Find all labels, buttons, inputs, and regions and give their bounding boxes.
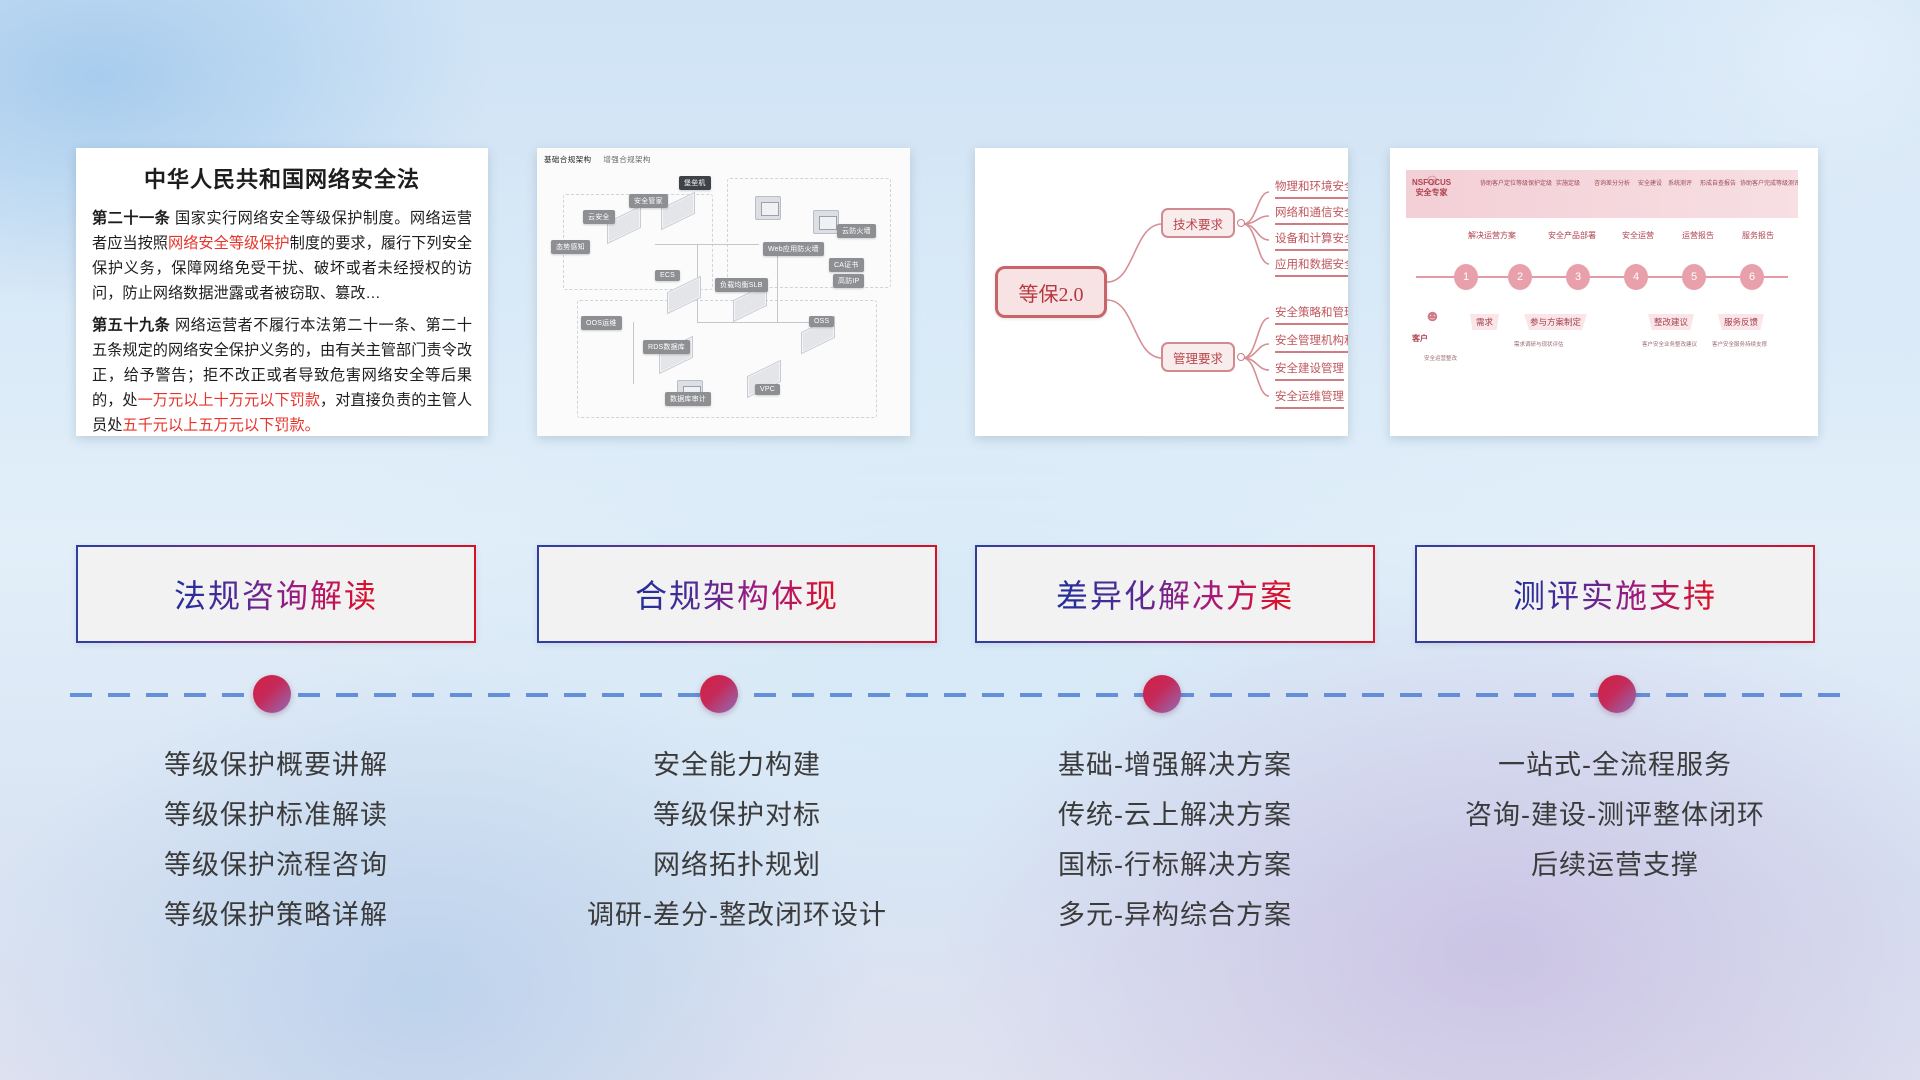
roadmap-step-1: 1 [1454,264,1478,290]
roadmap-sub-0: 解决运营方案 [1468,230,1516,241]
law-title: 中华人民共和国网络安全法 [92,162,472,194]
timeline-track [70,693,1850,697]
band-cell-1: 实施定级 [1556,178,1580,187]
architecture-diagram: 基础合规架构增强合规架构 堡垒机 安全管家 云安全 态势感知 We [537,148,910,436]
list-item: 后续运营支撑 [1415,840,1815,890]
mindmap-leaf-build: 安全建设管理 [1275,360,1344,381]
mindmap-root: 等保2.0 [995,266,1107,318]
node-cloud-security-center: 堡垒机 [679,176,711,190]
list-item: 等级保护策略详解 [76,890,476,940]
roadmap-step-5: 5 [1682,264,1706,290]
image-card-row: 中华人民共和国网络安全法 第二十一条 国家实行网络安全等级保护制度。网络运营者应… [0,148,1920,438]
bullet-columns: 等级保护概要讲解 等级保护标准解读 等级保护流程咨询 等级保护策略详解 安全能力… [0,740,1920,970]
article-59-label: 第五十九条 [92,317,170,334]
law-article-21: 第二十一条 国家实行网络安全等级保护制度。网络运营者应当按照网络安全等级保护制度… [92,206,472,306]
list-item: 等级保护流程咨询 [76,840,476,890]
band-cell-5: 形成自查报告 [1700,178,1736,187]
list-item: 调研-差分-整改闭环设计 [537,890,937,940]
mindmap-collapse-dot-management[interactable] [1237,353,1245,361]
node-ecs: ECS [655,270,680,281]
list-item: 网络拓扑规划 [537,840,937,890]
node-vpc: VPC [755,384,780,395]
node-anti-ddos: 高防IP [833,274,864,288]
node-slb: 负载均衡SLB [715,278,768,292]
mindmap-leaf-org: 安全管理机构和人员 [1275,332,1348,353]
connector-3 [697,322,817,323]
node-security-manager: 安全管家 [629,194,668,208]
article-21-highlight: 网络安全等级保护 [168,235,290,252]
roadmap-step-3: 3 [1566,264,1590,290]
timeline-node-4[interactable] [1598,675,1636,713]
node-situation-awareness: 态势感知 [551,240,590,254]
list-item: 一站式-全流程服务 [1415,740,1815,790]
list-item: 等级保护概要讲解 [76,740,476,790]
mindmap-leaf-physical: 物理和环境安全 [1275,178,1348,199]
node-cloud-sec: 云安全 [583,210,615,224]
roadmap-tag-2: 整改建议 [1648,314,1694,330]
mindmap-leaf-network: 网络和通信安全 [1275,204,1348,225]
icon-host-1 [755,196,781,220]
roadmap-step-2: 2 [1508,264,1532,290]
list-item: 基础-增强解决方案 [975,740,1375,790]
roadmap-brand: NSFOCUS 安全专家 [1412,178,1451,198]
list-item: 等级保护标准解读 [76,790,476,840]
roadmap-sub-2: 安全运营 [1622,230,1654,241]
connector-4 [777,248,778,322]
mindmap-branch-technical: 技术要求 [1161,208,1235,238]
card-cybersecurity-law[interactable]: 中华人民共和国网络安全法 第二十一条 国家实行网络安全等级保护制度。网络运营者应… [76,148,488,436]
roadmap-tag-3: 服务反馈 [1718,314,1764,330]
mindmap-leaf-ops: 安全运维管理 [1275,388,1344,409]
headline-label-4: 测评实施支持 [1513,571,1717,617]
node-db-audit: 数据库审计 [665,392,711,406]
architecture-tabs: 基础合规架构增强合规架构 [544,154,663,165]
headline-label-3: 差异化解决方案 [1056,571,1294,617]
timeline-node-2[interactable] [700,675,738,713]
roadmap-step-6: 6 [1740,264,1764,290]
card-dengbao-mindmap[interactable]: 等保2.0 技术要求 物理和环境安全 网络和通信安全 设备和计算安全 应用和数据… [975,148,1348,436]
roadmap-sub-3: 运营报告 [1682,230,1714,241]
brand-subtitle: 安全专家 [1412,188,1451,198]
bullet-column-4: 一站式-全流程服务 咨询-建设-测评整体闭环 后续运营支撑 [1415,740,1815,890]
node-cloud-firewall: 云防火墙 [837,224,876,238]
mindmap-diagram: 等保2.0 技术要求 物理和环境安全 网络和通信安全 设备和计算安全 应用和数据… [975,148,1348,436]
roadmap-diagram: 协助客户定位等级保护定级 实施定级 咨询差分分析 安全建设 系统测评 形成自查报… [1390,148,1818,436]
list-item: 多元-异构综合方案 [975,890,1375,940]
headline-box-assessment-support[interactable]: 测评实施支持 [1415,545,1815,643]
list-item: 咨询-建设-测评整体闭环 [1415,790,1815,840]
card-compliance-architecture[interactable]: 基础合规架构增强合规架构 堡垒机 安全管家 云安全 态势感知 We [537,148,910,436]
article-59-highlight-2: 五千元以上五万元以下罚款。 [122,417,319,434]
customer-role: 客户 [1412,334,1428,344]
list-item: 传统-云上解决方案 [975,790,1375,840]
headline-label-1: 法规咨询解读 [174,571,378,617]
roadmap-sub-1: 安全产品部署 [1548,230,1596,241]
headline-box-regulation-consulting[interactable]: 法规咨询解读 [76,545,476,643]
article-21-label: 第二十一条 [92,210,170,227]
roadmap-caption-0: 安全运营整改 [1424,354,1457,362]
timeline-node-1[interactable] [253,675,291,713]
customer-avatar-icon: ☻ [1424,308,1441,326]
roadmap-step-4: 4 [1624,264,1648,290]
bullet-column-2: 安全能力构建 等级保护对标 网络拓扑规划 调研-差分-整改闭环设计 [537,740,937,940]
tab-basic-architecture[interactable]: 基础合规架构 [544,155,591,164]
timeline-node-3[interactable] [1143,675,1181,713]
roadmap-caption-3: 客户安全服务持续支撑 [1712,340,1767,348]
bullet-column-1: 等级保护概要讲解 等级保护标准解读 等级保护流程咨询 等级保护策略详解 [76,740,476,940]
band-cell-4: 系统测评 [1668,178,1692,187]
mindmap-branch-management: 管理要求 [1161,342,1235,372]
law-article-59: 第五十九条 网络运营者不履行本法第二十一条、第二十五条规定的网络安全保护义务的，… [92,313,472,436]
icon-host-2 [813,210,839,234]
node-oos: OOS运维 [581,316,622,330]
band-cell-0: 协助客户定位等级保护定级 [1480,178,1552,187]
headline-box-compliance-architecture[interactable]: 合规架构体现 [537,545,937,643]
roadmap-band: 协助客户定位等级保护定级 实施定级 咨询差分分析 安全建设 系统测评 形成自查报… [1406,170,1798,218]
bullet-column-3: 基础-增强解决方案 传统-云上解决方案 国标-行标解决方案 多元-异构综合方案 [975,740,1375,940]
band-cell-3: 安全建设 [1638,178,1662,187]
article-59-highlight-1: 一万元以上十万元以下罚款 [138,392,320,409]
roadmap-tag-0: 需求 [1470,314,1499,330]
connector-1 [655,244,759,245]
node-rds: RDS数据库 [643,340,690,354]
headline-box-differentiated-solutions[interactable]: 差异化解决方案 [975,545,1375,643]
headline-label-2: 合规架构体现 [635,571,839,617]
mindmap-collapse-dot-technical[interactable] [1237,219,1245,227]
node-ca-cert: CA证书 [829,258,864,272]
node-waf: Web应用防火墙 [763,242,824,256]
law-content: 中华人民共和国网络安全法 第二十一条 国家实行网络安全等级保护制度。网络运营者应… [76,148,488,436]
card-assessment-roadmap[interactable]: 协助客户定位等级保护定级 实施定级 咨询差分分析 安全建设 系统测评 形成自查报… [1390,148,1818,436]
mindmap-leaf-policy: 安全策略和管理制度 [1275,304,1348,325]
band-cell-2: 咨询差分分析 [1594,178,1630,187]
headline-row: 法规咨询解读 合规架构体现 差异化解决方案 测评实施支持 [0,545,1920,655]
list-item: 等级保护对标 [537,790,937,840]
mindmap-leaf-device: 设备和计算安全 [1275,230,1348,251]
connector-5 [633,322,634,384]
roadmap-tag-1: 参与方案制定 [1524,314,1587,330]
roadmap-customer-label: 客户 [1412,334,1428,344]
roadmap-caption-1: 需求调研与现状评估 [1514,340,1564,348]
tab-enhanced-architecture[interactable]: 增强合规架构 [603,155,650,164]
roadmap-caption-2: 客户安全业务整改建议 [1642,340,1697,348]
list-item: 安全能力构建 [537,740,937,790]
band-cell-6: 协助客户完成等级测评及持续运营 [1740,178,1818,187]
list-item: 国标-行标解决方案 [975,840,1375,890]
node-oss: OSS [809,316,834,327]
roadmap-sub-4: 服务报告 [1742,230,1774,241]
brand-name: NSFOCUS [1412,178,1451,188]
mindmap-leaf-application: 应用和数据安全 [1275,256,1348,277]
